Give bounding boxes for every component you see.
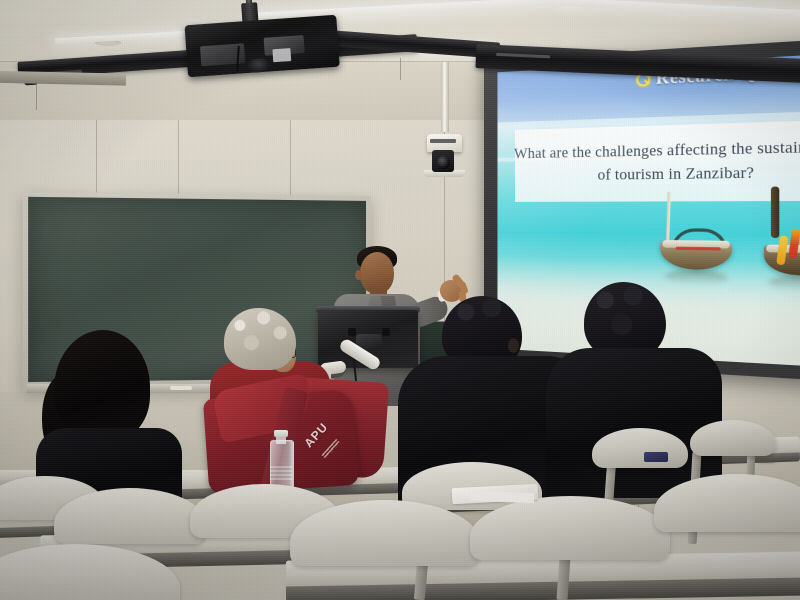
projector-lens-icon bbox=[247, 58, 270, 74]
presenter-ear bbox=[355, 270, 362, 280]
hair bbox=[584, 282, 666, 358]
slide-question-line-2: of tourism in Zanzibar? bbox=[598, 165, 754, 185]
ceiling-projector bbox=[184, 7, 340, 81]
camera-vent-strip bbox=[430, 139, 456, 143]
slide-question-line-1: What are the challenges affecting the su… bbox=[514, 138, 800, 164]
desk-item bbox=[644, 452, 668, 462]
hair bbox=[224, 308, 296, 370]
rail-drop-wire bbox=[36, 84, 37, 110]
lecture-hall-photo: Research Questions What are the challeng… bbox=[0, 0, 800, 600]
lectern-surface bbox=[0, 70, 126, 85]
slide-question-box: What are the challenges affecting the su… bbox=[515, 119, 800, 202]
monitor-vesa-hole bbox=[348, 328, 356, 336]
projector-connector bbox=[272, 48, 291, 62]
monitor-vesa-hole bbox=[382, 328, 390, 336]
bottle-ribs bbox=[270, 466, 292, 480]
boat-pole bbox=[771, 186, 779, 237]
rail-drop-wire bbox=[400, 58, 401, 80]
ear bbox=[508, 338, 519, 353]
projector-body bbox=[185, 15, 340, 77]
camera-lens-icon bbox=[437, 156, 450, 169]
camera-mount-pole bbox=[441, 62, 449, 132]
hair bbox=[54, 330, 150, 438]
housing-highlight bbox=[496, 53, 550, 58]
tote-bag: APU bbox=[198, 372, 398, 494]
bottle-cap bbox=[274, 430, 288, 437]
